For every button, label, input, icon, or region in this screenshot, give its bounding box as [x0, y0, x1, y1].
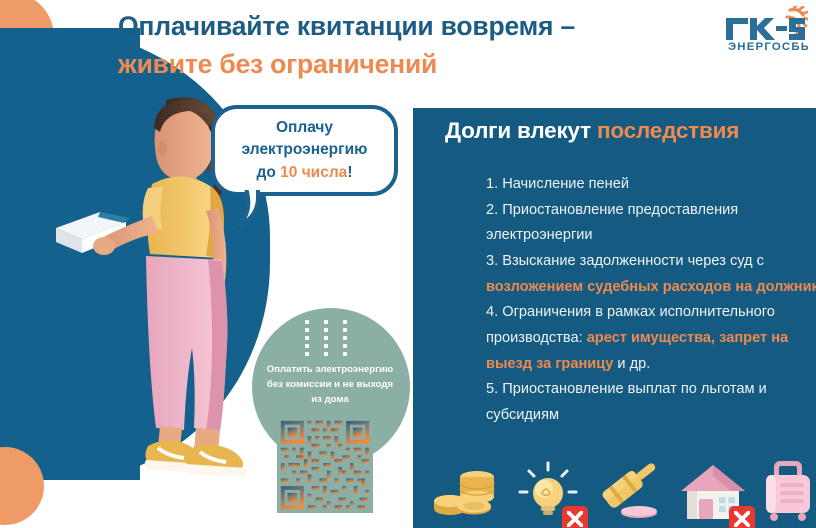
house-disabled-icon: [679, 461, 747, 528]
panel-title-white: Долги влекут: [445, 118, 591, 143]
panel-title: Долги влекут последствия: [445, 118, 739, 144]
headline-line-1: Оплачивайте квитанции вовремя –: [118, 8, 678, 46]
logo-icon: ЭНЕРГОСБЫТ: [716, 6, 808, 54]
speech-bubble-tail: [228, 186, 276, 230]
qr-caption-line-3: из дома: [311, 394, 348, 405]
list-item-text: 3. Взыскание задолженности через суд с: [486, 253, 764, 269]
qr-caption: Оплатить электроэнергию без комиссии и н…: [250, 363, 410, 408]
disabled-x-badge: [562, 506, 588, 528]
list-item-text: 5. Приостановление выплат по льготам и с…: [486, 381, 767, 423]
speech-bubble: Оплачу электроэнергию до 10 числа!: [211, 105, 398, 196]
logo-subtitle: ЭНЕРГОСБЫТ: [728, 41, 808, 53]
consequences-list: 1. Начисление пеней 2. Приостановление п…: [446, 172, 816, 429]
headline-line-2: живите без ограничений: [118, 46, 678, 84]
gavel-icon: [594, 461, 666, 528]
list-item-tail: и др.: [613, 356, 650, 372]
list-item-highlight: возложением судебных расходов на должник…: [486, 279, 816, 295]
page-title: Оплачивайте квитанции вовремя – живите б…: [118, 8, 678, 83]
infographic-canvas: Оплачивайте квитанции вовремя – живите б…: [0, 0, 816, 528]
lightbulb-disabled-icon: [516, 459, 580, 528]
list-item-text: 2. Приостановление предоставления электр…: [486, 202, 738, 244]
list-item-text: 1. Начисление пеней: [486, 176, 629, 192]
coins-icon: [433, 461, 503, 528]
list-item: 4. Ограничения в рамках исполнительного …: [486, 300, 816, 377]
speech-bubble-text: Оплачу электроэнергию до 10 числа!: [232, 117, 378, 184]
disabled-x-badge: [729, 506, 755, 528]
bubble-line-3-highlight: 10 числа: [280, 164, 347, 181]
qr-caption-line-2: без комиссии и не выходя: [267, 379, 393, 390]
bubble-line-1: Оплачу: [276, 119, 333, 136]
list-item: 5. Приостановление выплат по льготам и с…: [486, 377, 816, 428]
dot-grid-decoration: [305, 320, 349, 356]
qr-code[interactable]: [277, 417, 373, 513]
bubble-line-3-suffix: !: [347, 164, 352, 181]
company-logo: ЭНЕРГОСБЫТ: [716, 6, 808, 54]
consequences-panel: Долги влекут последствия 1. Начисление п…: [413, 108, 816, 528]
bubble-line-3-prefix: до: [257, 164, 281, 181]
suitcase-icon: [760, 457, 816, 528]
list-item: 3. Взыскание задолженности через суд с в…: [486, 249, 816, 300]
list-item: 1. Начисление пеней: [486, 172, 816, 198]
consequence-icons: [433, 458, 816, 528]
panel-title-orange: последствия: [597, 118, 739, 143]
bubble-line-2: электроэнергию: [242, 141, 368, 158]
qr-caption-line-1: Оплатить электроэнергию: [267, 364, 393, 375]
list-item: 2. Приостановление предоставления электр…: [486, 198, 816, 249]
